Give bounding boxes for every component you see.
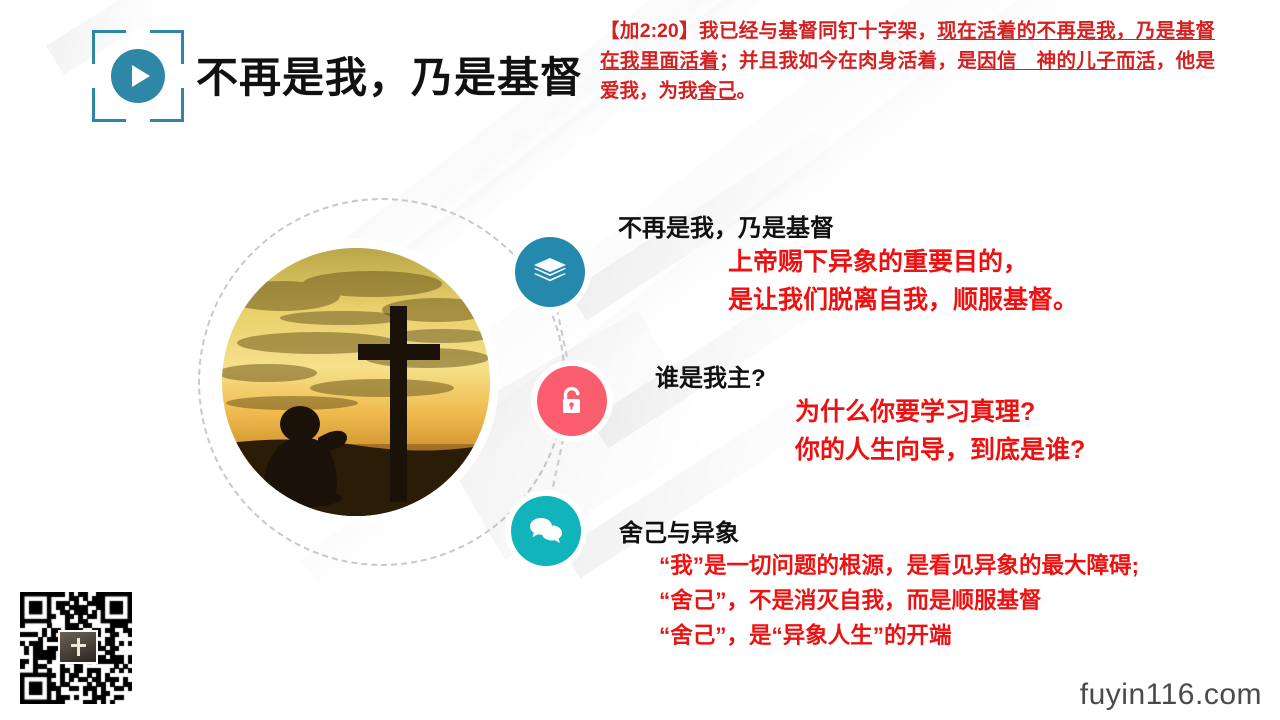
chat-bubbles-icon [511, 496, 581, 566]
content-block-2: 谁是我主? 为什么你要学习真理? 你的人生向导，到底是谁? [655, 358, 1085, 469]
block-line: 你的人生向导，到底是谁? [655, 431, 1085, 469]
play-button-icon [111, 49, 165, 103]
page-title: 不再是我，乃是基督 [196, 44, 583, 105]
block-line: “舍己”，不是消灭自我，而是顺服基督 [619, 583, 1139, 618]
scripture-segment: 【加2:20】我已经与基督同钉十字架， [600, 20, 937, 42]
block-line: 是让我们脱离自我，顺服基督。 [618, 281, 1078, 319]
scripture-segment: 舍己 [698, 80, 737, 102]
illustration-photo [222, 248, 490, 516]
block-line: “我”是一切问题的根源，是看见异象的最大障碍; [619, 548, 1139, 583]
qr-code [20, 592, 132, 704]
scripture-reference: 【加2:20】我已经与基督同钉十字架，现在活着的不再是我，乃是基督在我里面活着；… [600, 16, 1215, 106]
block-heading: 谁是我主? [655, 358, 1085, 393]
unlock-icon [537, 366, 607, 436]
content-block-3: 舍己与异象 “我”是一切问题的根源，是看见异象的最大障碍; “舍己”，不是消灭自… [619, 513, 1139, 653]
site-watermark: fuyin116.com [1080, 678, 1262, 712]
layers-icon [515, 237, 585, 307]
block-line: 为什么你要学习真理? [655, 393, 1085, 431]
content-block-1: 不再是我，乃是基督 上帝赐下异象的重要目的， 是让我们脱离自我，顺服基督。 [618, 208, 1078, 319]
logo-frame [92, 30, 184, 122]
scripture-segment: ；并且我如今在肉身活着，是 [719, 50, 977, 72]
block-heading: 舍己与异象 [619, 513, 1139, 548]
block-line: 上帝赐下异象的重要目的， [618, 243, 1078, 281]
scripture-segment: 因信 神的儿子而活 [977, 50, 1156, 72]
qr-center-logo [58, 630, 98, 664]
scripture-segment: 。 [737, 80, 757, 102]
block-heading: 不再是我，乃是基督 [618, 208, 1078, 243]
block-line: “舍己”，是“异象人生”的开端 [619, 618, 1139, 653]
